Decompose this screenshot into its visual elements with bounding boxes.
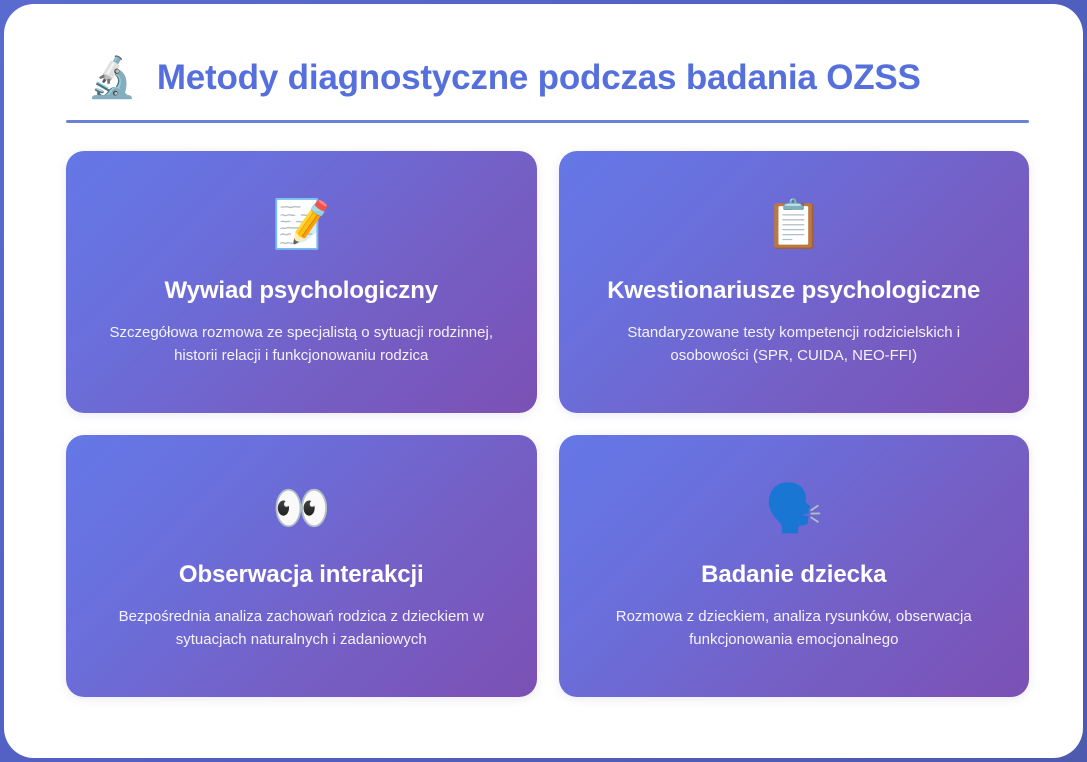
microscope-icon: 🔬 — [87, 58, 137, 98]
method-card-obserwacja-interakcji[interactable]: 👀 Obserwacja interakcji Bezpośrednia ana… — [66, 435, 537, 697]
eyes-icon: 👀 — [272, 477, 331, 537]
card-title: Kwestionariusze psychologiczne — [607, 277, 980, 305]
content-panel: 🔬 Metody diagnostyczne podczas badania O… — [4, 4, 1083, 758]
card-description: Rozmowa z dzieckiem, analiza rysunków, o… — [589, 606, 999, 650]
card-description: Szczegółowa rozmowa ze specjalistą o syt… — [96, 322, 506, 366]
page-header: 🔬 Metody diagnostyczne podczas badania O… — [47, 44, 1040, 98]
method-card-wywiad-psychologiczny[interactable]: 📝 Wywiad psychologiczny Szczegółowa rozm… — [66, 151, 537, 413]
clipboard-icon: 📋 — [764, 193, 823, 253]
card-title: Wywiad psychologiczny — [164, 277, 438, 305]
card-title: Badanie dziecka — [701, 561, 886, 589]
methods-card-grid: 📝 Wywiad psychologiczny Szczegółowa rozm… — [47, 151, 1040, 697]
memo-pencil-icon: 📝 — [272, 193, 331, 253]
card-title: Obserwacja interakcji — [179, 561, 424, 589]
card-description: Bezpośrednia analiza zachowań rodzica z … — [96, 606, 506, 650]
card-description: Standaryzowane testy kompetencji rodzici… — [589, 322, 999, 366]
speaking-head-icon: 🗣️ — [764, 477, 823, 537]
method-card-kwestionariusze-psychologiczne[interactable]: 📋 Kwestionariusze psychologiczne Standar… — [559, 151, 1030, 413]
header-divider — [66, 120, 1029, 123]
page-title: Metody diagnostyczne podczas badania OZS… — [157, 58, 921, 98]
method-card-badanie-dziecka[interactable]: 🗣️ Badanie dziecka Rozmowa z dzieckiem, … — [559, 435, 1030, 697]
